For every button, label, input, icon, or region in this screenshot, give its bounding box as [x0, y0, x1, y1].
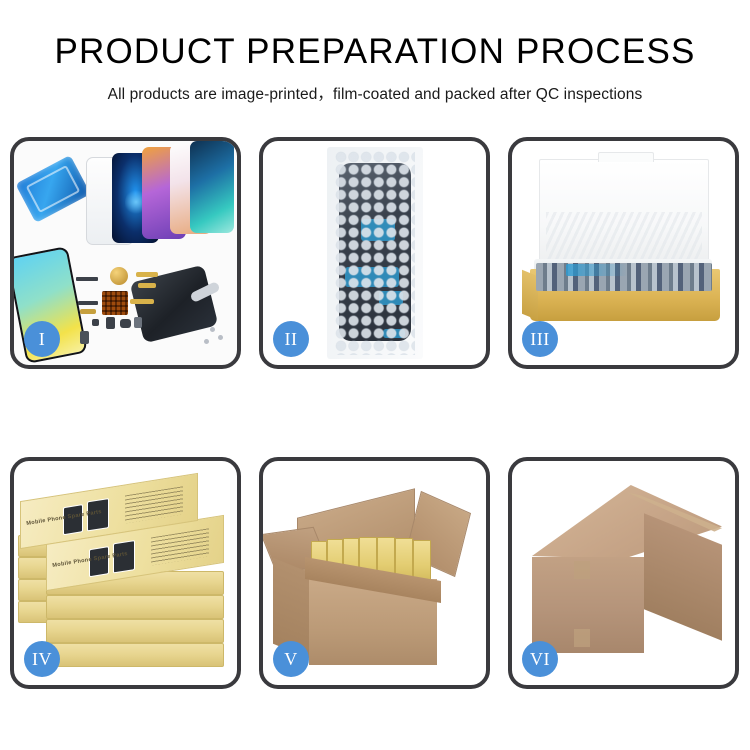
- spare-part-vibrator: [120, 319, 131, 328]
- sealed-carton-right-face: [644, 513, 722, 641]
- spare-part-flex-cable-2: [138, 283, 156, 288]
- phone-screen-teal-display: [190, 141, 234, 233]
- spare-part-sim-tray: [134, 317, 142, 328]
- process-steps-grid: I II: [10, 137, 740, 689]
- page-title: PRODUCT PREPARATION PROCESS: [0, 34, 750, 69]
- process-step-panel-3: III: [508, 137, 739, 369]
- spare-part-flex-cable-1: [136, 272, 158, 277]
- step-badge-3: III: [522, 321, 558, 357]
- kraft-box-edge-8: [46, 643, 224, 667]
- spare-part-camera-module: [106, 317, 115, 329]
- spare-part-connector-2: [80, 331, 89, 344]
- spare-part-screw-3: [204, 339, 209, 344]
- spare-part-gold-coil: [110, 267, 128, 285]
- spare-part-chip-array: [102, 291, 128, 315]
- step-badge-1: I: [24, 321, 60, 357]
- box-spec-lines-2: [151, 528, 209, 565]
- process-step-panel-2: II: [259, 137, 490, 369]
- spare-part-flex-cable-3: [80, 309, 96, 314]
- carton-tape-tab-top: [574, 561, 590, 579]
- step-badge-6: VI: [522, 641, 558, 677]
- mailer-box-lid: [539, 159, 709, 271]
- wrapped-screens-in-box: [536, 263, 712, 291]
- step-badge-4: IV: [24, 641, 60, 677]
- bubble-wrap-texture: [335, 151, 415, 355]
- page-subtitle: All products are image-printed，film-coat…: [0, 82, 750, 104]
- spare-part-screw-1: [210, 327, 215, 332]
- kraft-box-edge-7: [46, 619, 224, 643]
- header: PRODUCT PREPARATION PROCESS All products…: [0, 0, 750, 104]
- process-step-panel-6: VI: [508, 457, 739, 689]
- process-step-panel-4: Mobile Phone Spare Parts Mobile Phone Sp…: [10, 457, 241, 689]
- spare-part-connector-1: [78, 301, 98, 305]
- process-step-panel-5: V: [259, 457, 490, 689]
- process-step-panel-1: I: [10, 137, 241, 369]
- spare-part-flex-cable-4: [130, 299, 154, 304]
- carton-tape-tab-bottom: [574, 629, 590, 647]
- kraft-box-edge-6: [46, 595, 224, 619]
- step-badge-5: V: [273, 641, 309, 677]
- spare-part-button-1: [92, 319, 99, 326]
- spare-part-speaker: [76, 277, 98, 281]
- adhesive-frame-part: [15, 155, 90, 223]
- spare-part-screw-2: [218, 335, 223, 340]
- bubble-wrap-bag: [327, 147, 423, 359]
- step-badge-2: II: [273, 321, 309, 357]
- product-preparation-process-infographic: PRODUCT PREPARATION PROCESS All products…: [0, 0, 750, 750]
- box-spec-lines-1: [125, 486, 183, 523]
